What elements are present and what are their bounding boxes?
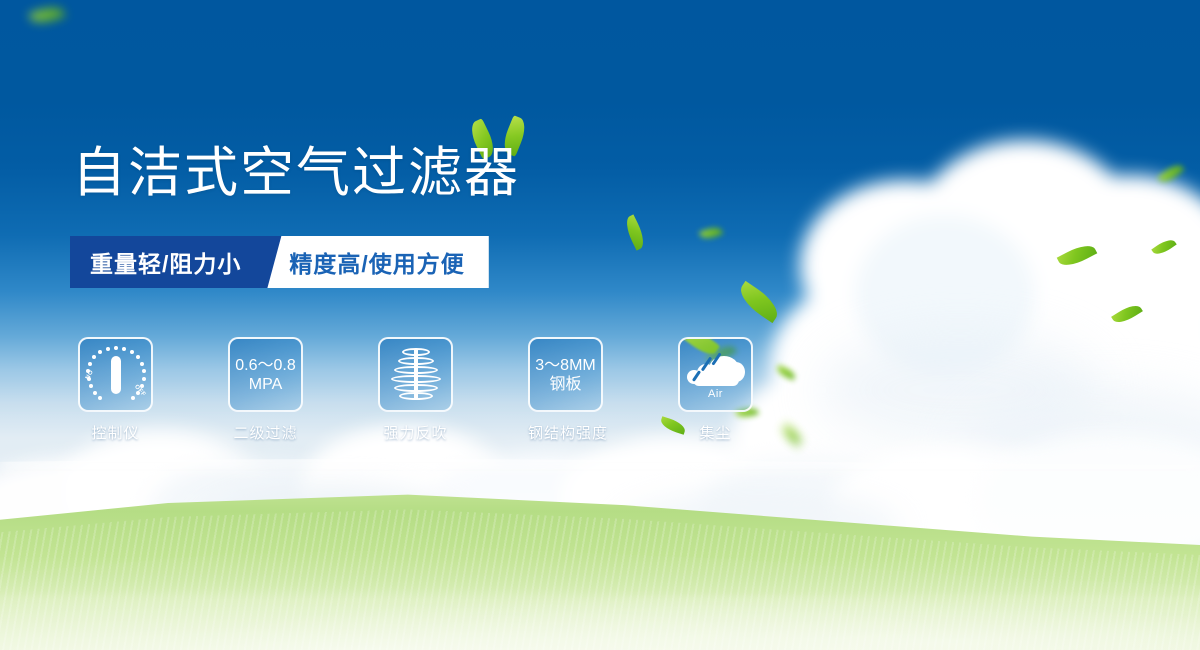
badge-left-segment: 重量轻/阻力小 [70,236,281,288]
pressure-line-2: MPA [235,375,296,394]
steel-plate-icon: 3～8MM 钢板 [535,356,595,394]
feature-item-steel[interactable]: 3～8MM 钢板 钢结构强度 [528,337,603,443]
steel-line-1: 3～8MM [535,356,595,375]
feature-item-dust[interactable]: Air 集尘 [678,337,753,443]
feature-caption: 强力反吹 [378,422,453,443]
air-label: Air [687,388,745,400]
feature-icon-box [378,337,453,412]
pressure-value-icon: 0.6～0.8 MPA [235,356,296,394]
feature-caption: 集尘 [678,422,753,443]
subtitle-badge: 重量轻/阻力小 精度高/使用方便 [70,236,489,288]
page-title: 自洁式空气过滤器 [72,143,520,203]
feature-caption: 二级过滤 [228,422,303,443]
feature-icon-row: NO OFF 控制仪 0.6～0.8 MPA 二级过滤 [78,337,753,443]
feature-item-pressure[interactable]: 0.6～0.8 MPA 二级过滤 [228,337,303,443]
badge-right-segment: 精度高/使用方便 [267,236,488,288]
product-hero-banner: 自洁式空气过滤器 重量轻/阻力小 精度高/使用方便 [0,0,1200,650]
feature-item-control[interactable]: NO OFF 控制仪 [78,337,153,443]
feature-icon-box: 3～8MM 钢板 [528,337,603,412]
pressure-line-1: 0.6～0.8 [235,356,296,375]
feature-icon-box: NO OFF [78,337,153,412]
feature-item-blowback[interactable]: 强力反吹 [378,337,453,443]
feature-icon-box: Air [678,337,753,412]
feature-icon-box: 0.6～0.8 MPA [228,337,303,412]
grass-highlight [0,500,1200,650]
feature-caption: 控制仪 [78,422,153,443]
control-dial-icon: NO OFF [85,344,147,406]
filter-stack-icon [389,348,443,402]
dial-off-label: OFF [133,383,146,397]
feature-caption: 钢结构强度 [528,422,603,443]
air-cloud-icon: Air [687,350,745,400]
steel-line-2: 钢板 [535,375,595,394]
